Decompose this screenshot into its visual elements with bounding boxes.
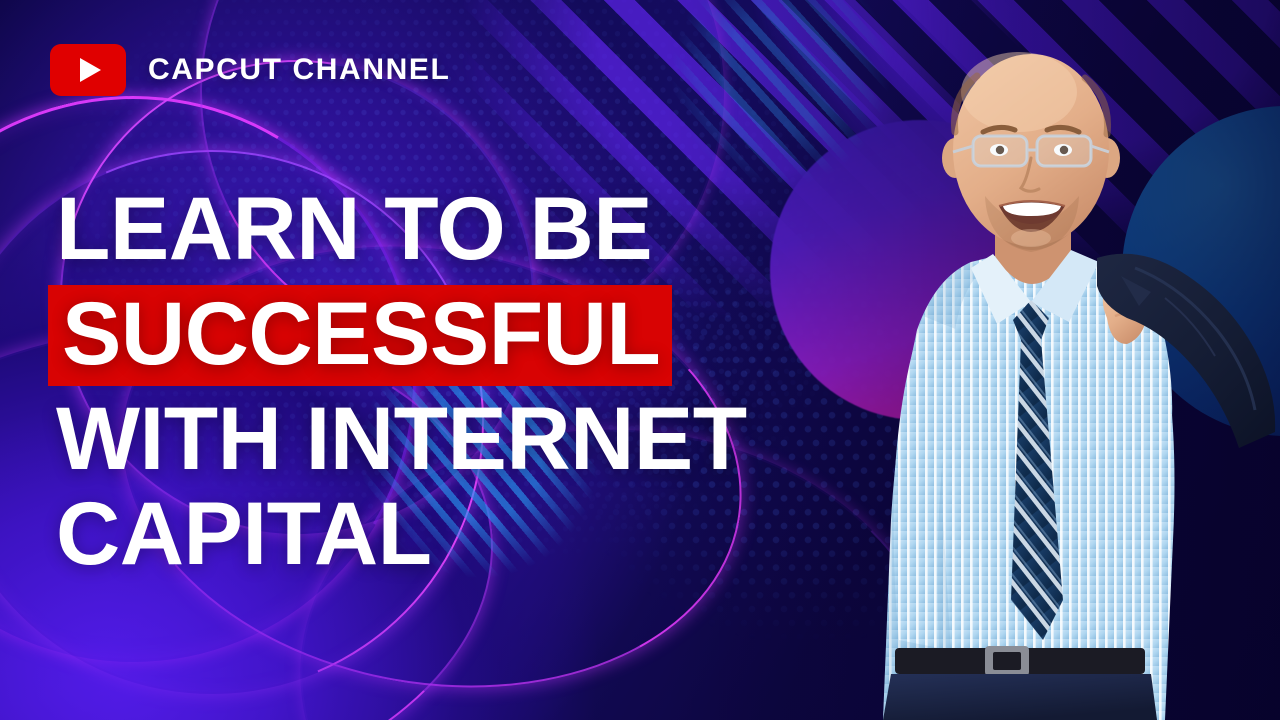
presenter-photo bbox=[835, 0, 1280, 720]
headline-line-4: CAPITAL bbox=[56, 491, 856, 576]
youtube-thumbnail: CAPCUT CHANNEL LEARN TO BE SUCCESSFUL WI… bbox=[0, 0, 1280, 720]
play-triangle-icon bbox=[80, 58, 101, 82]
channel-name: CAPCUT CHANNEL bbox=[148, 53, 450, 87]
headline-line-3: WITH INTERNET bbox=[56, 396, 856, 481]
youtube-play-icon[interactable] bbox=[50, 44, 126, 96]
channel-logo[interactable]: CAPCUT CHANNEL bbox=[50, 44, 450, 96]
headline-highlight: SUCCESSFUL bbox=[48, 285, 672, 386]
headline-block: LEARN TO BE SUCCESSFUL WITH INTERNET CAP… bbox=[56, 186, 856, 577]
headline-line-1: LEARN TO BE bbox=[56, 186, 856, 271]
